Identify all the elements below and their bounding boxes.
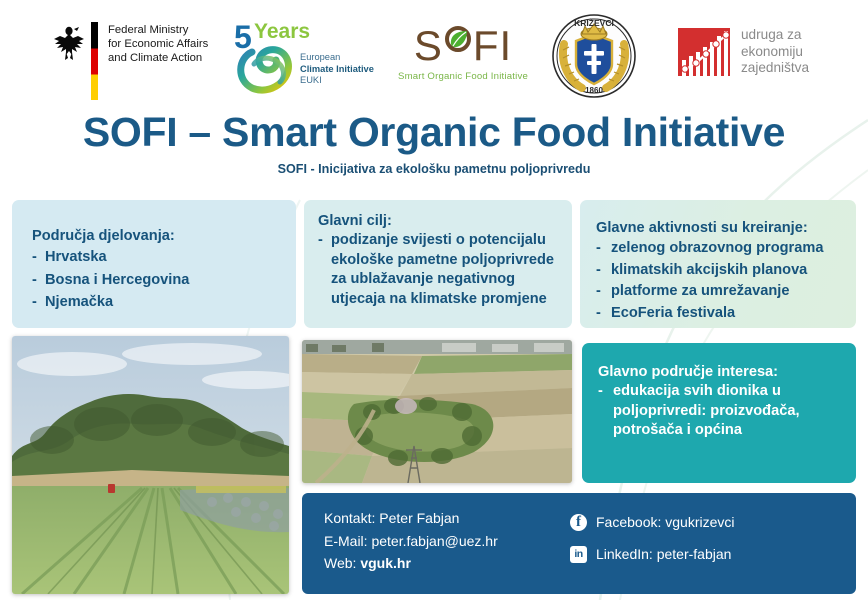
euki-line-2: Climate Initiative [300,64,374,74]
logo-sofi: S FI Smart Organic Food Initiative [396,24,530,92]
sofi-tagline: Smart Organic Food Initiative [396,71,530,82]
box-areas-item-text: Hrvatska [45,246,107,269]
sofi-wordmark: S FI [396,24,530,70]
euki-line-1: European [300,52,374,64]
facebook-icon: f [570,514,587,531]
bullet-dash: - [596,281,611,303]
federal-eagle-icon [52,22,86,62]
box-activities-item: -klimatskih akcijskih planova [596,260,856,282]
contact-label-kontakt: Kontakt: [324,510,375,526]
vegetable-field-photo [12,336,289,594]
bullet-dash: - [32,269,45,292]
euki-years-word: Years [254,20,310,44]
contact-bar: Kontakt: Peter Fabjan E-Mail: peter.fabj… [302,493,856,594]
contact-social: f Facebook: vgukrizevci in LinkedIn: pet… [570,507,735,594]
box-main-interest: Glavno područje interesa: -edukacija svi… [582,343,856,483]
box-activities-item: -platforme za umrežavanje [596,281,856,303]
box-interest-item: -edukacija svih dionika u poljoprivredi:… [598,382,856,441]
title-block: SOFI – Smart Organic Food Initiative SOF… [0,108,868,178]
euki-text: European Climate Initiative EUKI [300,52,374,87]
box-areas-item: -Bosna i Hercegovina [32,269,296,292]
crest-year-text: 1860 [585,86,603,95]
bmwk-line-2: for Economic Affairs [108,37,208,51]
bmwk-text: Federal Ministry for Economic Affairs an… [108,22,208,66]
bmwk-line-3: and Climate Action [108,51,208,65]
box-areas-of-activity: Područja djelovanja: -Hrvatska -Bosna i … [12,200,296,328]
contact-label-email: E-Mail: [324,533,368,549]
contact-line-person: Kontakt: Peter Fabjan [324,507,570,530]
contact-line-email: E-Mail: peter.fabjan@uez.hr [324,530,570,553]
sofi-leaf-icon [449,29,469,49]
bullet-dash: - [32,246,45,269]
contact-value-web[interactable]: vguk.hr [360,555,411,571]
box-activities-item-text: platforme za umrežavanje [611,281,789,303]
box-areas-item-text: Njemačka [45,291,113,314]
linkedin-icon: in [570,546,587,563]
box-areas-heading: Područja djelovanja: [32,226,296,246]
bmwk-line-1: Federal Ministry [108,23,208,37]
social-facebook[interactable]: f Facebook: vgukrizevci [570,508,735,536]
box-goal-item-text: podizanje svijesti o potencijalu ekološk… [331,231,572,309]
box-interest-item-text: edukacija svih dionika u poljoprivredi: … [613,382,856,441]
bullet-dash: - [596,238,611,260]
logo-uez: udruga za ekonomiju zajedništva [676,26,809,78]
poster-canvas: Federal Ministry for Economic Affairs an… [0,0,868,600]
box-activities-heading: Glavne aktivnosti su kreiranje: [596,218,856,238]
contact-line-web: Web: vguk.hr [324,552,570,575]
crest-icon: KRIŽEVCI 1860 [552,14,636,98]
box-activities-item-text: zelenog obrazovnog programa [611,238,823,260]
logo-strip: Federal Ministry for Economic Affairs an… [0,0,868,108]
bullet-dash: - [32,291,45,314]
box-areas-item: -Njemačka [32,291,296,314]
page-title: SOFI – Smart Organic Food Initiative [0,108,868,156]
box-activities-item: -zelenog obrazovnog programa [596,238,856,260]
bullet-dash: - [596,260,611,282]
logo-euki: 5 Years European Climate Initiative EUKI [232,18,382,98]
uez-line-3: zajedništva [741,60,809,76]
aerial-farmland-photo [302,340,572,483]
uez-text: udruga za ekonomiju zajedništva [741,27,809,76]
box-activities-item: -EcoFeria festivala [596,303,856,325]
uez-line-2: ekonomiju [741,44,809,60]
euki-line-3: EUKI [300,75,374,87]
box-activities-item-text: EcoFeria festivala [611,303,735,325]
page-subtitle: SOFI - Inicijativa za ekološku pametnu p… [0,161,868,178]
german-flag-bar [91,22,98,100]
logo-krizevci-crest: KRIŽEVCI 1860 [552,14,636,98]
sofi-letters: S FI [414,24,512,68]
box-main-activities: Glavne aktivnosti su kreiranje: -zelenog… [580,200,856,328]
bullet-dash: - [596,303,611,325]
contact-value-email[interactable]: peter.fabjan@uez.hr [371,533,497,549]
crest-top-text: KRIŽEVCI [574,17,614,28]
box-interest-heading: Glavno područje interesa: [598,362,856,382]
facebook-handle: Facebook: vgukrizevci [596,508,735,536]
box-goal-heading: Glavni cilj: [318,211,572,231]
box-activities-item-text: klimatskih akcijskih planova [611,260,807,282]
box-main-goal: Glavni cilj: -podizanje svijesti o poten… [304,200,572,328]
logo-bmwk: Federal Ministry for Economic Affairs an… [52,22,208,100]
linkedin-handle: LinkedIn: peter-fabjan [596,540,731,568]
bullet-dash: - [598,382,613,441]
uez-chart-icon [676,26,732,78]
social-linkedin[interactable]: in LinkedIn: peter-fabjan [570,540,735,568]
uez-line-1: udruga za [741,27,809,43]
box-areas-item-text: Bosna i Hercegovina [45,269,189,292]
box-goal-item: -podizanje svijesti o potencijalu ekološ… [318,231,572,309]
contact-value-person: Peter Fabjan [379,510,459,526]
contact-details: Kontakt: Peter Fabjan E-Mail: peter.fabj… [324,507,570,594]
box-areas-item: -Hrvatska [32,246,296,269]
contact-label-web: Web: [324,555,356,571]
bullet-dash: - [318,231,331,309]
